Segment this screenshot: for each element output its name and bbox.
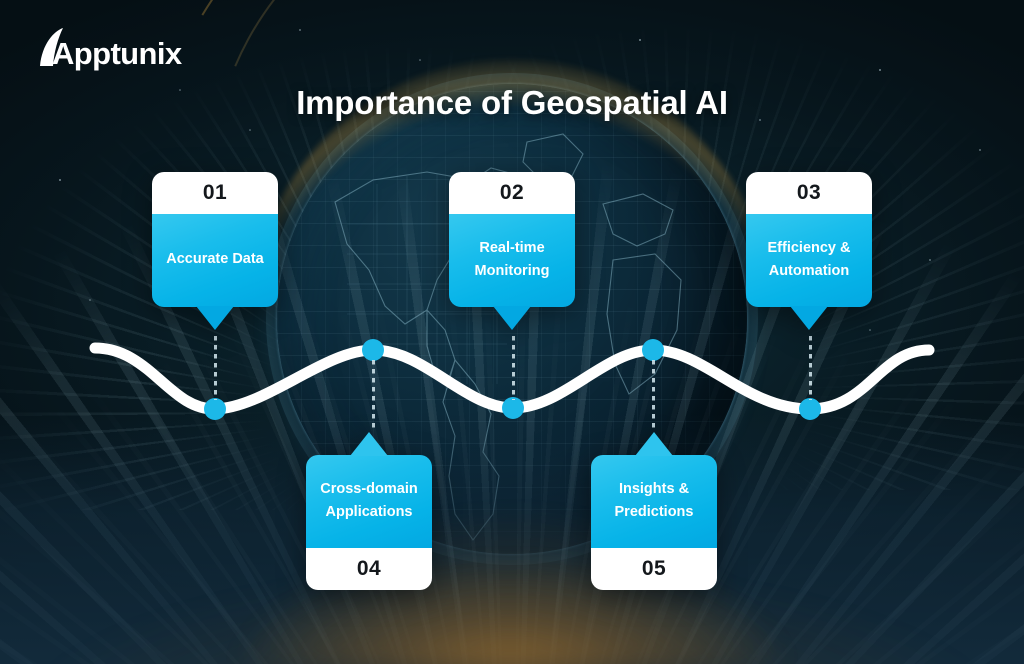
step-label-02: Real-time Monitoring xyxy=(449,214,575,307)
step-number-01: 01 xyxy=(152,172,278,214)
connector-dots-3 xyxy=(512,336,515,400)
step-number-03: 03 xyxy=(746,172,872,214)
step-number-02: 02 xyxy=(449,172,575,214)
step-number-05: 05 xyxy=(591,548,717,590)
step-card-01[interactable]: 01 Accurate Data xyxy=(152,172,278,307)
apptunix-logo-icon: Apptunix xyxy=(30,26,190,72)
step-card-05[interactable]: Insights & Predictions 05 xyxy=(591,455,717,590)
card-pointer-02 xyxy=(493,306,531,330)
step-card-03[interactable]: 03 Efficiency & Automation xyxy=(746,172,872,307)
step-label-03: Efficiency & Automation xyxy=(746,214,872,307)
card-pointer-05 xyxy=(635,432,673,456)
page-title: Importance of Geospatial AI xyxy=(0,84,1024,122)
svg-text:Apptunix: Apptunix xyxy=(52,36,183,71)
step-number-04: 04 xyxy=(306,548,432,590)
step-label-01: Accurate Data xyxy=(152,214,278,307)
card-pointer-04 xyxy=(350,432,388,456)
connector-dots-2 xyxy=(372,360,375,428)
brand-logo[interactable]: Apptunix xyxy=(30,26,190,72)
connector-dots-5 xyxy=(809,336,812,400)
connector-dots-4 xyxy=(652,360,655,428)
step-card-02[interactable]: 02 Real-time Monitoring xyxy=(449,172,575,307)
step-label-04: Cross-domain Applications xyxy=(306,455,432,548)
card-pointer-01 xyxy=(196,306,234,330)
step-card-04[interactable]: Cross-domain Applications 04 xyxy=(306,455,432,590)
background-city-glow-core xyxy=(184,514,839,664)
card-pointer-03 xyxy=(790,306,828,330)
step-label-05: Insights & Predictions xyxy=(591,455,717,548)
connector-dots-1 xyxy=(214,336,217,400)
